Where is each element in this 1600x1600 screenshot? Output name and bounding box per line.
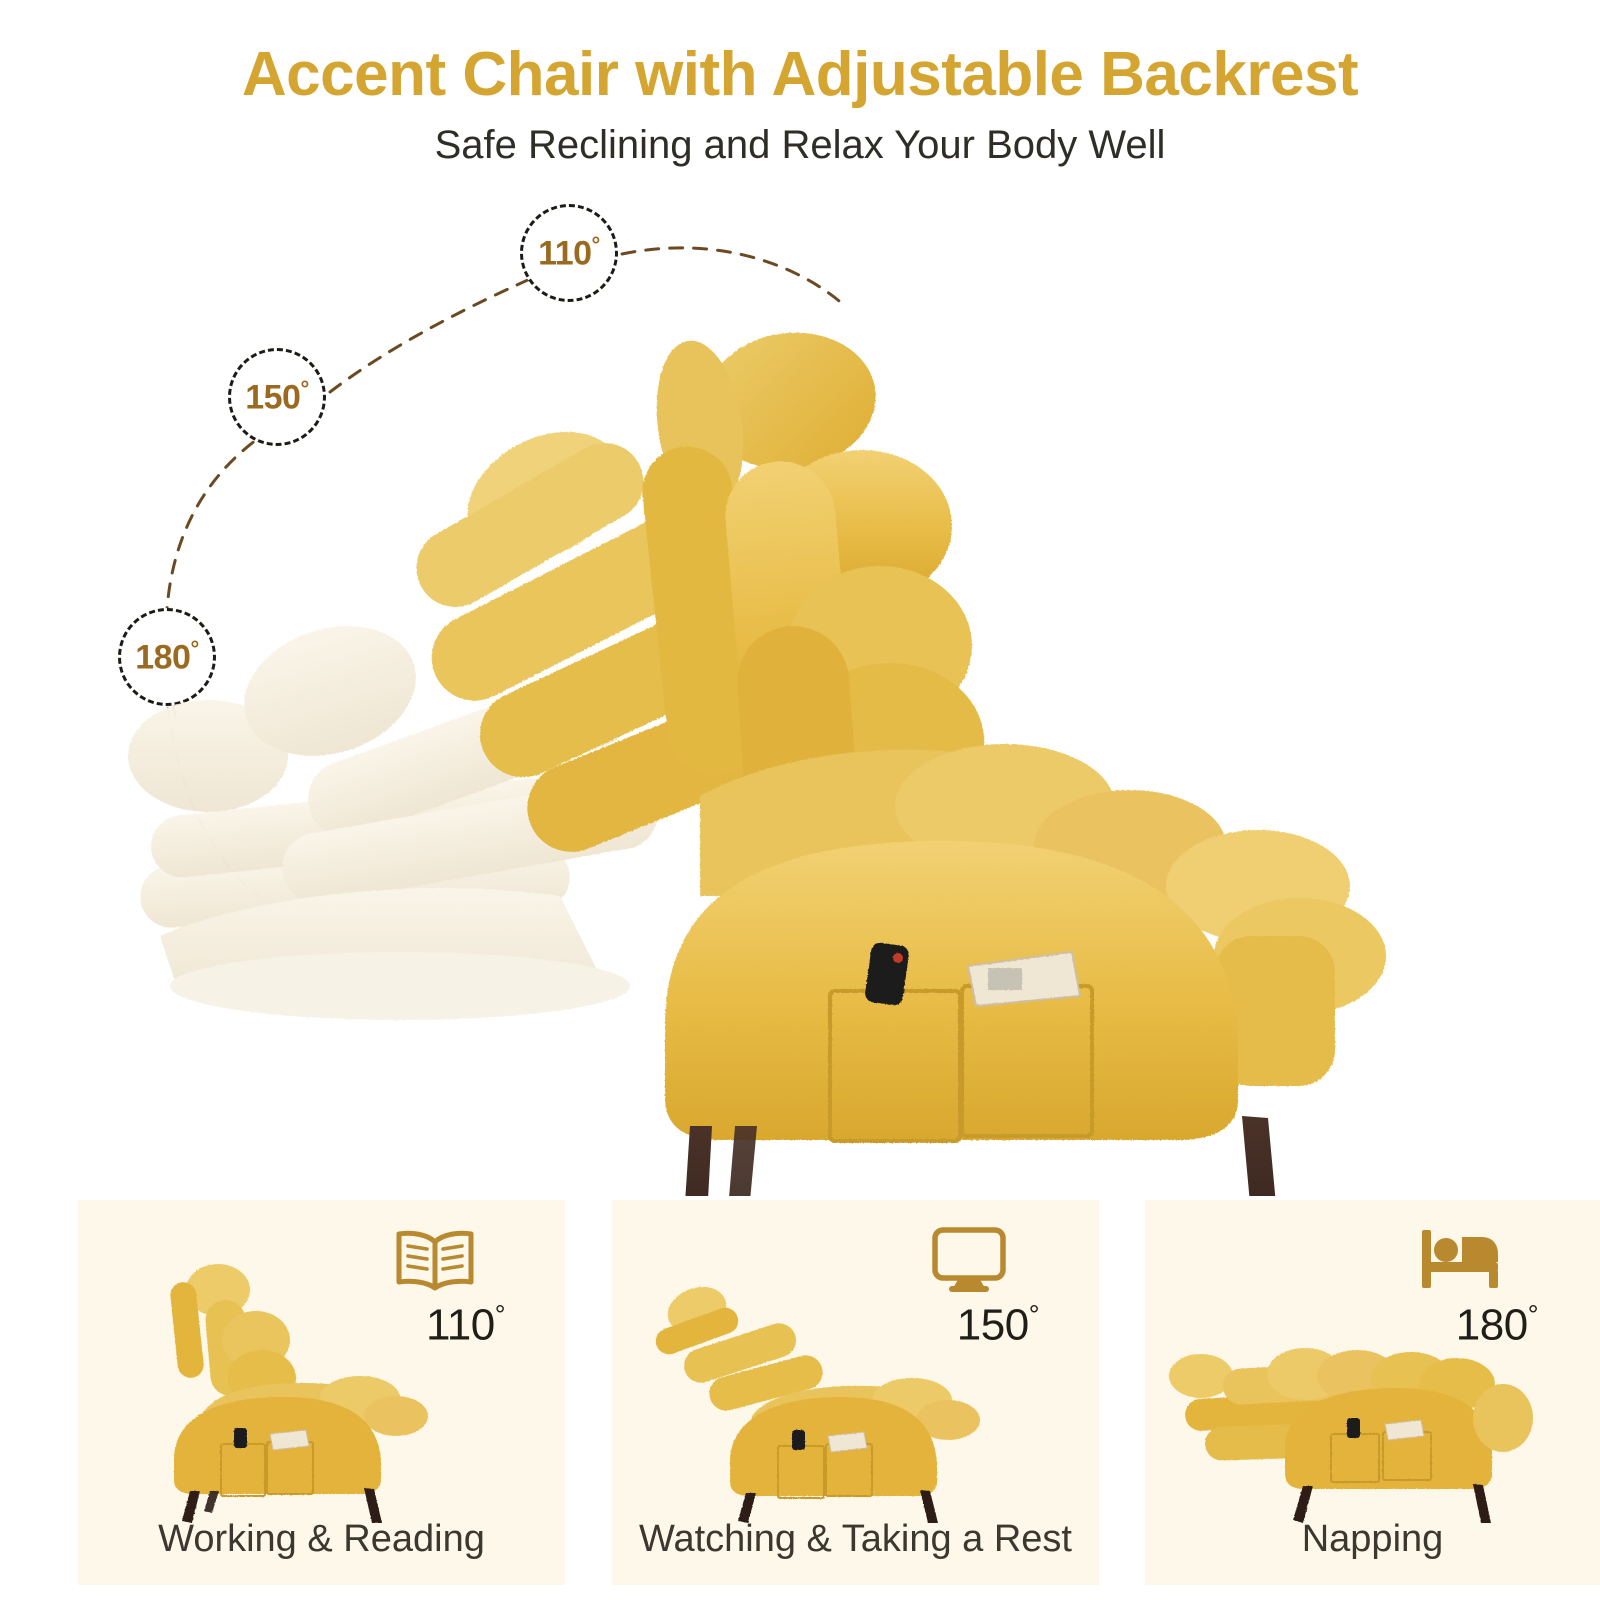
chair-thumb-180 xyxy=(1145,1248,1600,1523)
page-title: Accent Chair with Adjustable Backrest xyxy=(0,42,1600,107)
panel-working-reading[interactable]: 110° Working & Reading xyxy=(78,1200,565,1585)
infographic-canvas: Accent Chair with Adjustable Backrest Sa… xyxy=(0,0,1600,1600)
chair-thumb-150 xyxy=(612,1248,1099,1523)
panel-watching-rest[interactable]: 150° Watching & Taking a Rest xyxy=(612,1200,1099,1585)
panel-150-caption: Watching & Taking a Rest xyxy=(612,1518,1099,1561)
panel-110-angle: 110° xyxy=(426,1300,505,1351)
page-subtitle: Safe Reclining and Relax Your Body Well xyxy=(0,123,1600,168)
bed-icon xyxy=(1416,1224,1504,1296)
product-image-main-chair xyxy=(0,196,1600,1196)
header: Accent Chair with Adjustable Backrest Sa… xyxy=(0,0,1600,168)
panel-180-angle: 180° xyxy=(1456,1300,1538,1351)
open-book-icon xyxy=(391,1224,479,1296)
panel-napping[interactable]: 180° Napping xyxy=(1145,1200,1600,1585)
panel-150-angle: 150° xyxy=(957,1300,1039,1351)
chair-seat-body xyxy=(665,744,1386,1141)
monitor-icon xyxy=(925,1224,1013,1296)
panel-180-caption: Napping xyxy=(1145,1518,1600,1561)
chair-illustration xyxy=(0,196,1600,1196)
chair-thumb-110 xyxy=(78,1248,565,1523)
mode-panels: 110° Working & Reading xyxy=(0,1200,1600,1590)
panel-110-caption: Working & Reading xyxy=(78,1518,565,1561)
hero-diagram: 110° 150° 180° xyxy=(0,196,1600,1196)
